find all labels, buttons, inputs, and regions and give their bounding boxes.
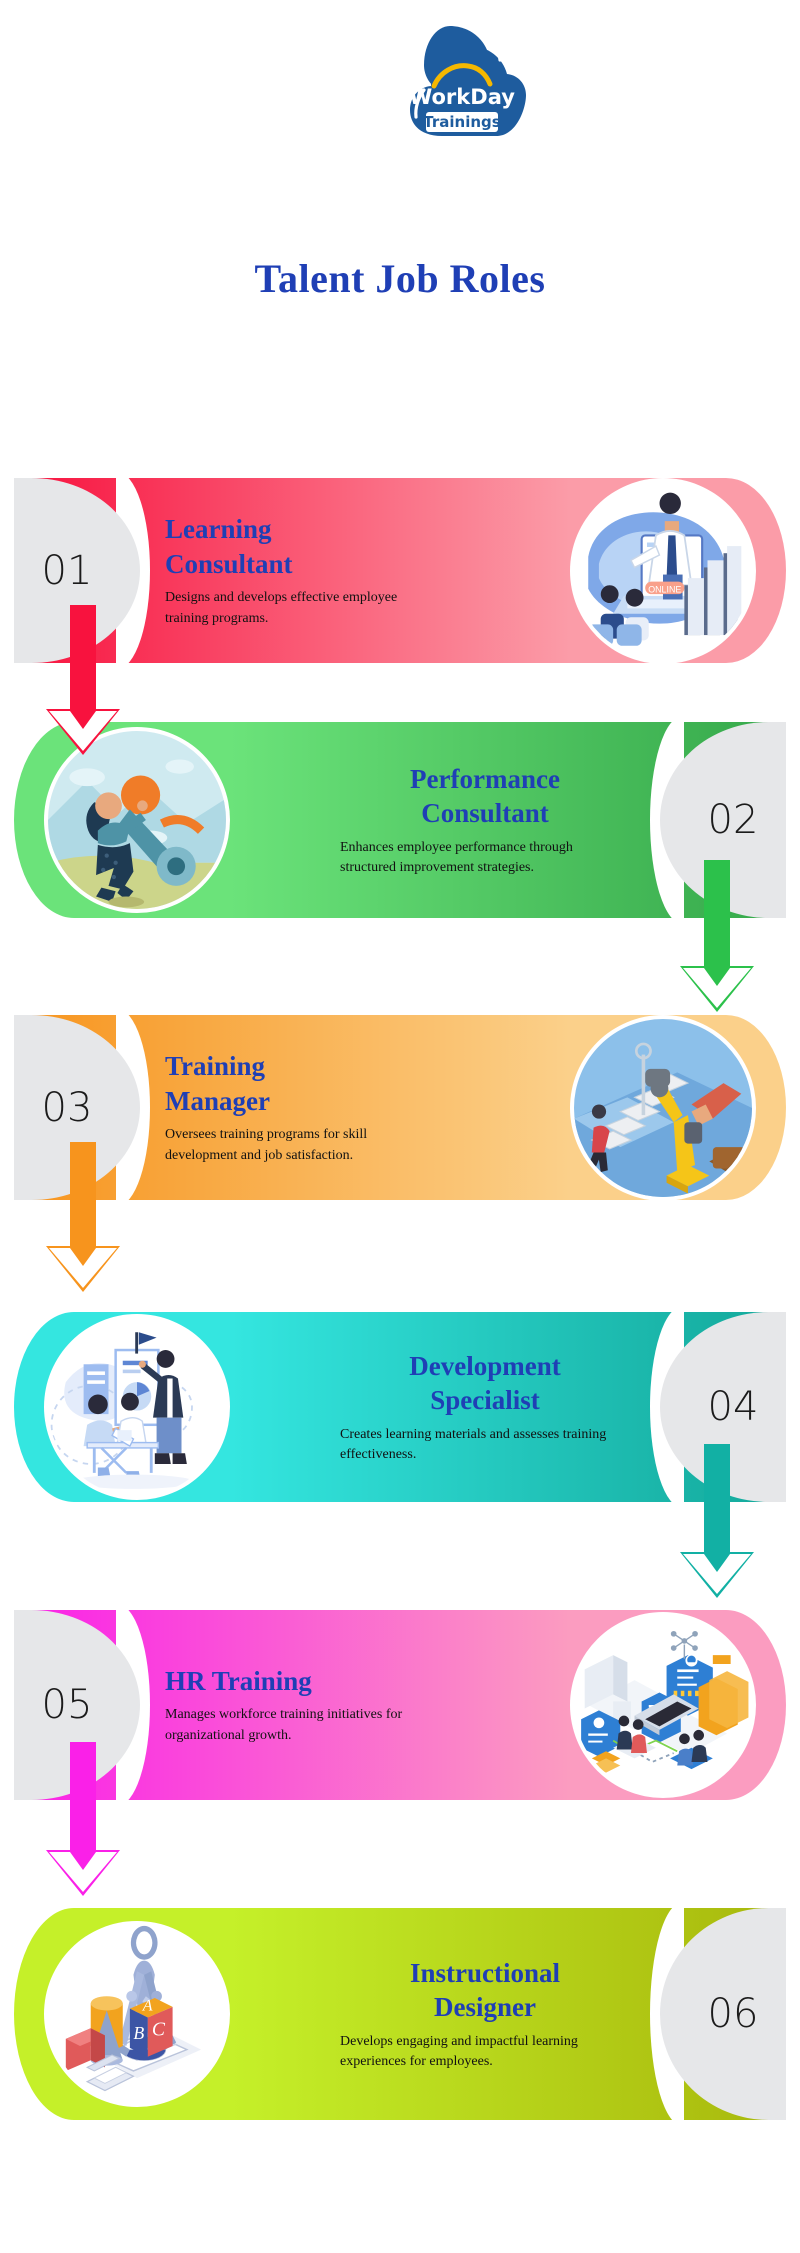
role-number: 03 xyxy=(42,1088,93,1128)
role-title: Instructional Designer xyxy=(340,1956,630,2025)
svg-text:C: C xyxy=(152,2019,166,2040)
role-row[interactable]: 06 C B A Instructional Designe xyxy=(0,1908,800,2120)
svg-text:ONLINE: ONLINE xyxy=(648,584,681,594)
connector-arrow xyxy=(678,1444,756,1598)
role-title-line1: Learning xyxy=(165,514,272,544)
role-text-block: Instructional DesignerDevelops engaging … xyxy=(340,1908,630,2120)
role-description: Oversees training programs for skill dev… xyxy=(165,1125,435,1166)
svg-text:A: A xyxy=(142,1997,153,2014)
connector-arrow xyxy=(678,860,756,1012)
role-number: 05 xyxy=(42,1685,93,1725)
role-text-block: Performance ConsultantEnhances employee … xyxy=(340,722,630,918)
role-title-line2: Specialist xyxy=(430,1385,540,1415)
role-text-block: Development SpecialistCreates learning m… xyxy=(340,1312,630,1502)
role-title: Performance Consultant xyxy=(340,762,630,831)
role-title: HR Training xyxy=(165,1664,435,1699)
role-title: Development Specialist xyxy=(340,1349,630,1418)
role-number: 02 xyxy=(708,800,759,840)
online-training-presenter-icon: ONLINE xyxy=(574,482,752,660)
role-title-line2: Consultant xyxy=(165,549,293,579)
role-text-block: HR TrainingManages workforce training in… xyxy=(165,1610,435,1800)
connector-arrow xyxy=(44,605,122,755)
role-number: 04 xyxy=(708,1387,759,1427)
role-text-block: Learning ConsultantDesigns and develops … xyxy=(165,478,435,663)
role-number: 06 xyxy=(708,1994,759,2034)
hr-network-devices-icon xyxy=(574,1616,752,1794)
design-tools-shapes-icon: C B A xyxy=(48,1925,226,2103)
brand-name-primary: WorkDay xyxy=(409,85,515,109)
woman-reaching-goal-icon xyxy=(48,731,226,909)
brand-name-secondary: Trainings xyxy=(423,113,500,131)
role-title-line1: Performance xyxy=(410,764,560,794)
connector-arrow xyxy=(44,1742,122,1896)
role-description: Designs and develops effective employee … xyxy=(165,588,435,629)
role-title-line1: Development xyxy=(409,1351,560,1381)
header: WorkDay Trainings Talent Job Roles xyxy=(0,0,800,400)
team-presentation-icon xyxy=(48,1318,226,1496)
role-description: Manages workforce training initiatives f… xyxy=(165,1705,435,1746)
brand-logo: WorkDay Trainings xyxy=(398,18,528,148)
role-description: Enhances employee performance through st… xyxy=(340,838,630,879)
role-description: Develops engaging and impactful learning… xyxy=(340,2032,630,2073)
connector-arrow xyxy=(44,1142,122,1292)
robot-arm-steps-icon xyxy=(574,1019,752,1197)
role-title-line1: HR Training xyxy=(165,1666,312,1696)
role-number: 01 xyxy=(42,551,93,591)
role-title-line2: Manager xyxy=(165,1086,270,1116)
role-title-line1: Training xyxy=(165,1051,265,1081)
role-title: Training Manager xyxy=(165,1049,435,1118)
page-title: Talent Job Roles xyxy=(0,255,800,302)
role-title-line2: Designer xyxy=(434,1992,536,2022)
svg-text:B: B xyxy=(133,2023,144,2043)
role-title-line2: Consultant xyxy=(421,798,549,828)
role-text-block: Training ManagerOversees training progra… xyxy=(165,1015,435,1200)
role-title-line1: Instructional xyxy=(410,1958,560,1988)
role-description: Creates learning materials and assesses … xyxy=(340,1425,630,1466)
role-title: Learning Consultant xyxy=(165,512,435,581)
